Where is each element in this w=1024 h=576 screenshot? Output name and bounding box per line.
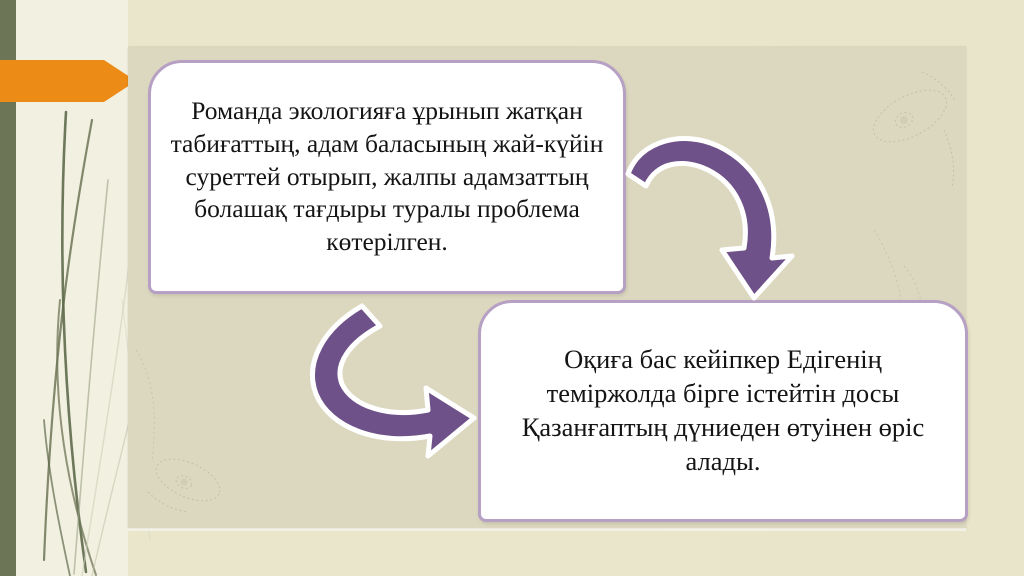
textbox-upper[interactable]: Романда экологияға ұрынып жатқан табиғат…	[148, 60, 626, 294]
floral-ornament-left-mid	[134, 346, 184, 466]
textbox-lower[interactable]: Оқиға бас кейіпкер Едігенің теміржолда б…	[478, 300, 968, 522]
panel-bottom-edge	[128, 528, 966, 531]
textbox-upper-text: Романда экологияға ұрынып жатқан табиғат…	[151, 95, 623, 258]
floral-ornament-bottom-left	[142, 432, 262, 522]
slide-canvas: Романда экологияға ұрынып жатқан табиғат…	[0, 0, 1024, 576]
floral-ornament-top-right	[852, 60, 966, 190]
textbox-lower-text: Оқиға бас кейіпкер Едігенің теміржолда б…	[481, 343, 965, 479]
